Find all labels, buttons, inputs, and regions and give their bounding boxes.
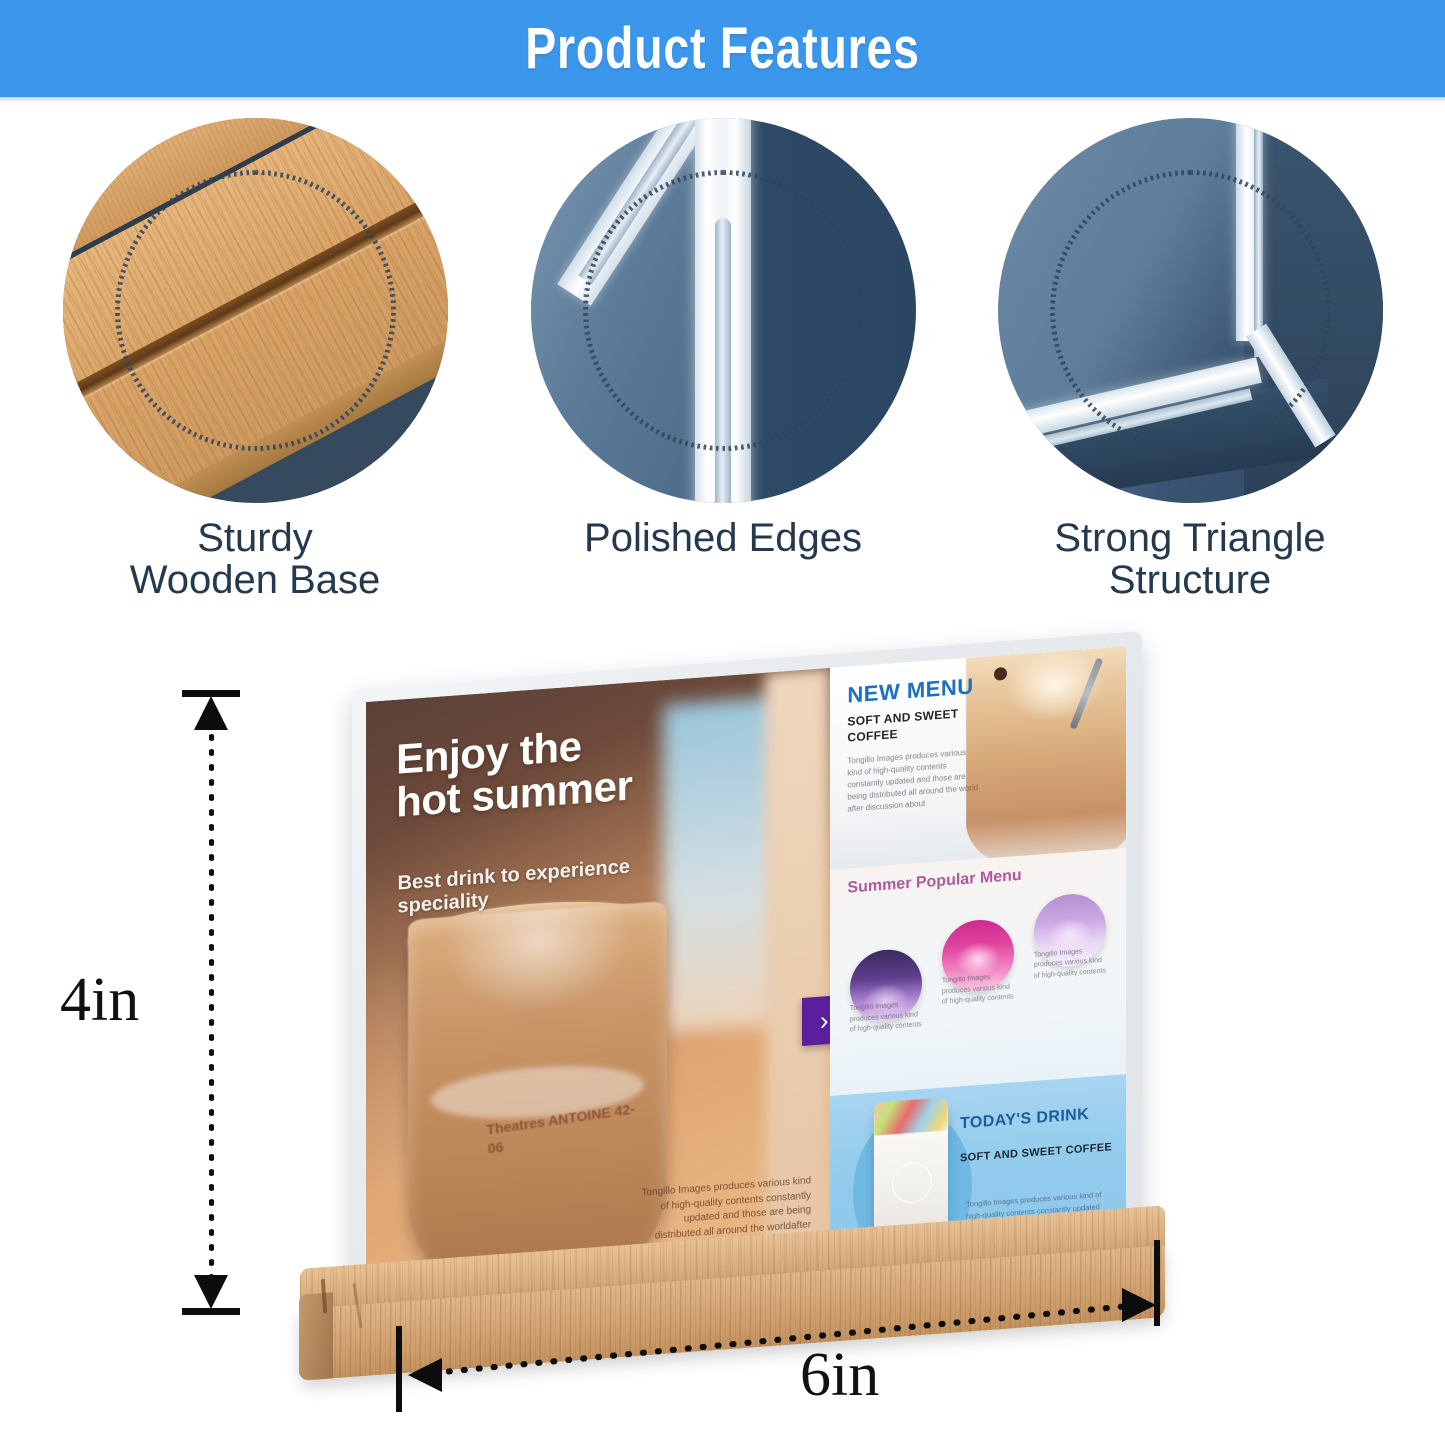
popular-menu-block: Summer Popular Menu Tongillo Images prod… [830,848,1126,1097]
feature-image-wrap-1 [63,118,448,503]
wooden-base-left-end [299,1292,333,1380]
popular-menu-title: Summer Popular Menu [847,867,1021,898]
page-title: Product Features [525,15,919,82]
new-menu-body: Tongillo Images produces various kind of… [847,746,980,816]
feature-strong-triangle-structure: Strong Triangle Structure [955,118,1425,602]
height-cap-bottom [182,1308,240,1315]
new-menu-subtitle: SOFT AND SWEET COFFEE [847,706,966,746]
popular-menu-thumbs: Tongillo Images produces various kind of… [844,894,1111,1077]
wooden-base-photo-icon [63,118,448,503]
todays-drink-subtitle: SOFT AND SWEET COFFEE [960,1140,1114,1166]
height-dotted-line [209,730,214,1275]
width-tick-right [1154,1240,1160,1326]
feature-label-3-line2: Structure [955,559,1425,601]
feature-label-1: Sturdy Wooden Base [20,517,490,602]
feature-label-3-line1: Strong Triangle [955,517,1425,559]
drink-caption-1: Tongillo Images produces various kind of… [850,1000,922,1037]
width-dimension-label: 6in [800,1340,879,1411]
height-arrow-up-icon [194,696,228,730]
width-arrow-right-icon [1122,1288,1156,1322]
coffee-drink-photo [966,646,1126,869]
menu-headline: Enjoy the hot summer [396,718,656,824]
drink-caption-3: Tongillo Images produces various kind of… [1034,945,1106,982]
feature-polished-edges: Polished Edges [488,118,958,559]
menu-left-panel: Theatres ANTOINE 42-06 Enjoy the hot sum… [366,668,830,1332]
new-menu-block: NEW MENU SOFT AND SWEET COFFEE Tongillo … [830,646,1126,869]
feature-row: Sturdy Wooden Base Polished Edges [0,118,1445,623]
todays-drink-title: TODAY'S DRINK [960,1104,1114,1133]
feature-label-3: Strong Triangle Structure [955,517,1425,602]
feature-label-1-line1: Sturdy [20,517,490,559]
chevron-right-glyph: › [820,1007,829,1034]
feature-sturdy-wooden-base: Sturdy Wooden Base [20,118,490,602]
polished-edge-photo-icon [531,118,916,503]
feature-label-2-line1: Polished Edges [488,517,958,559]
height-dimension-line [176,690,246,1315]
fruit-topping [874,1098,948,1136]
width-tick-left [396,1326,402,1412]
width-dimension-line [392,1240,1162,1415]
feature-label-1-line2: Wooden Base [20,559,490,601]
feature-label-2: Polished Edges [488,517,958,559]
header-banner: Product Features [0,0,1445,97]
height-dimension-label: 4in [60,965,139,1036]
width-dotted-line [412,1303,1134,1378]
drink-caption-2: Tongillo Images produces various kind of… [942,972,1014,1009]
menu-right-panel: NEW MENU SOFT AND SWEET COFFEE Tongillo … [830,646,1126,1298]
feature-image-wrap-3 [998,118,1383,503]
feature-image-wrap-2 [531,118,916,503]
triangle-structure-photo-icon [998,118,1383,503]
new-menu-title: NEW MENU [847,673,973,708]
header-divider [0,97,1445,101]
height-arrow-down-icon [194,1275,228,1309]
product-features-infographic: Product Features Sturdy Wooden Base [0,0,1445,1445]
